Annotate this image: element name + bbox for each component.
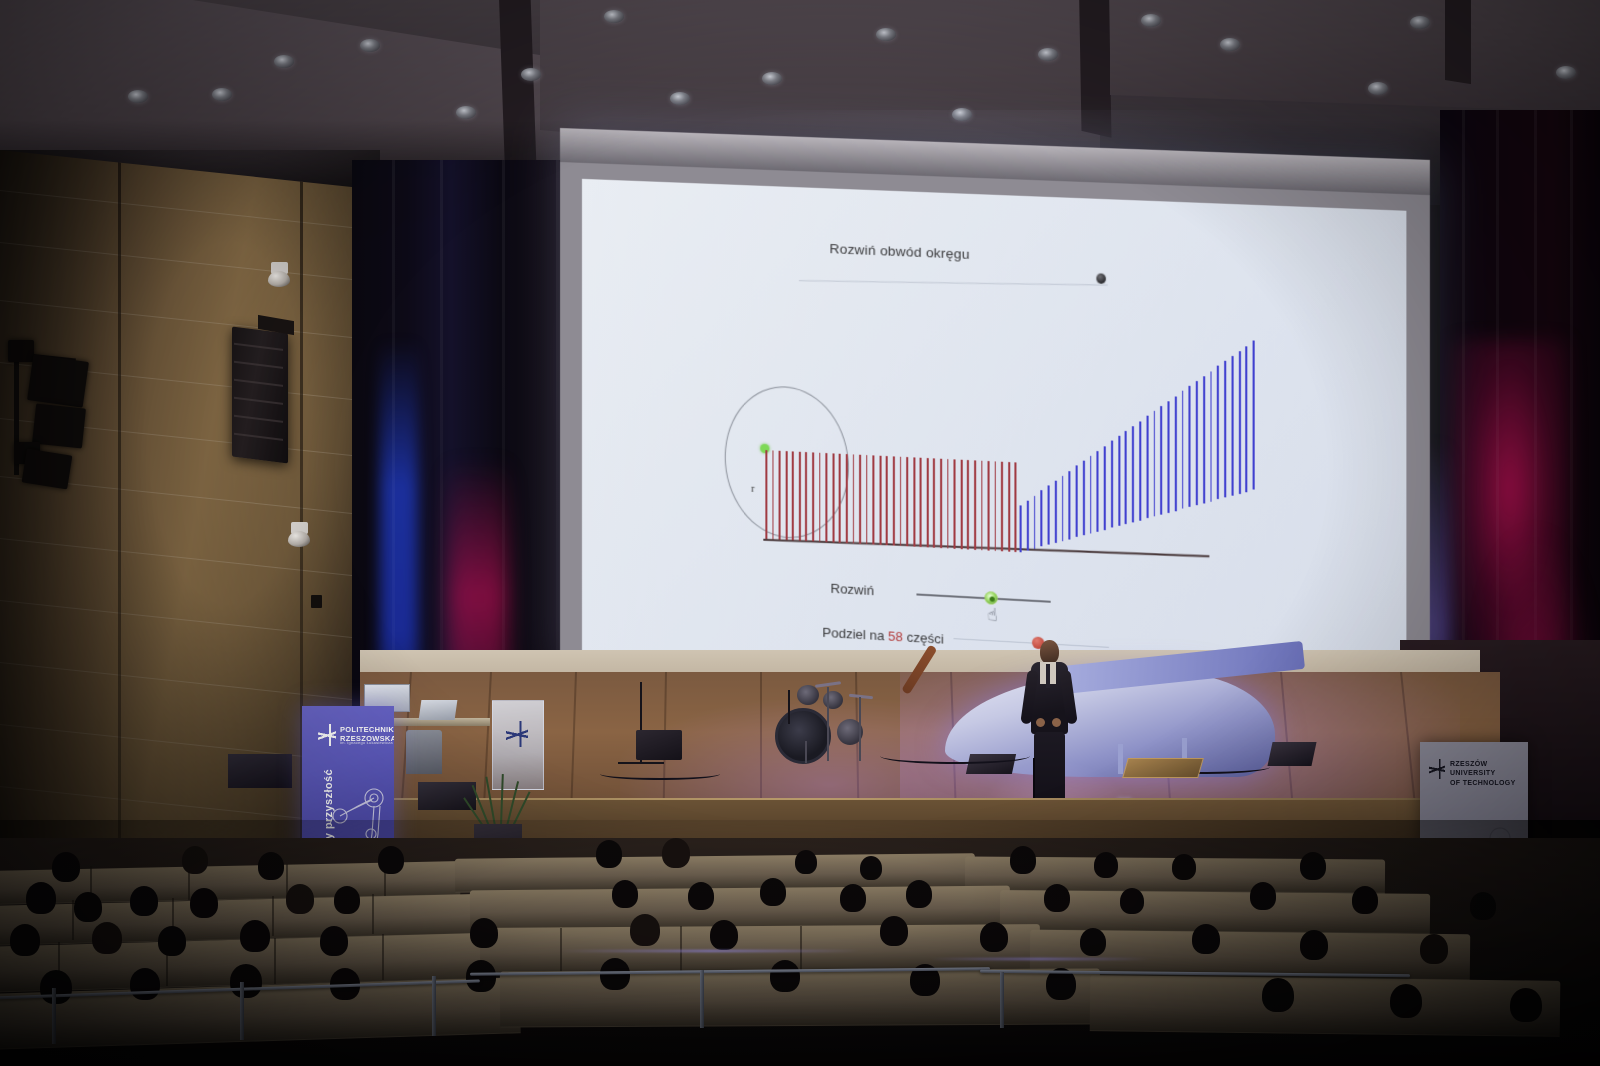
tom-drum	[823, 691, 843, 709]
audience-head	[182, 846, 208, 874]
banner-right-title-line2: OF TECHNOLOGY	[1450, 779, 1528, 788]
audience-head	[190, 888, 218, 918]
blue-segment	[1224, 361, 1226, 498]
seat-row[interactable]	[500, 968, 1100, 1027]
audience-head	[880, 916, 908, 946]
audience-head	[662, 838, 690, 868]
wooden-tray	[1122, 758, 1204, 778]
audience-head	[10, 924, 40, 956]
downlight-icon	[360, 39, 380, 52]
red-segment	[927, 458, 929, 547]
audience-head	[320, 926, 348, 956]
blue-segment	[1104, 446, 1106, 530]
red-segment	[1001, 462, 1003, 552]
blue-segment	[1083, 461, 1085, 536]
stage-cable	[600, 768, 720, 780]
blue-segment	[1125, 431, 1127, 524]
line-array-speaker	[232, 327, 288, 464]
blue-segment	[1132, 426, 1134, 522]
audience-head	[760, 878, 786, 906]
unroll-slider-row: Rozwiń	[830, 581, 874, 599]
red-segment	[974, 460, 976, 550]
audience-head	[906, 880, 932, 908]
stage-monitor	[1267, 742, 1316, 766]
red-segment	[933, 458, 935, 547]
red-segment	[947, 459, 949, 548]
blue-segment	[1239, 351, 1241, 494]
blue-segment	[1027, 500, 1029, 550]
audience-head	[1192, 924, 1220, 954]
audience-head	[1262, 978, 1294, 1012]
red-segment	[994, 461, 996, 551]
red-segment	[906, 457, 908, 546]
stage-light-fixture	[8, 340, 34, 362]
railing-post	[1000, 972, 1004, 1028]
red-segment	[785, 451, 787, 540]
ptz-camera-icon	[288, 522, 310, 548]
tom-drum	[797, 685, 819, 705]
audience-head	[286, 884, 314, 914]
blue-segment	[1111, 441, 1113, 528]
railing-post	[432, 976, 436, 1036]
audience-head	[92, 922, 122, 954]
audience-head	[52, 852, 80, 882]
stage-light-fixture	[27, 354, 89, 407]
blue-segment	[1076, 466, 1078, 538]
audience-head	[378, 846, 404, 874]
red-segment	[805, 452, 807, 541]
audience-head	[1420, 934, 1448, 964]
auditorium-scene: Rozwiń obwód okręgu r Rozwiń ☜	[0, 0, 1600, 1066]
blue-segment	[1055, 481, 1057, 543]
microphone-stand-base	[618, 762, 664, 764]
seat-row[interactable]	[1090, 975, 1561, 1037]
red-segment	[812, 452, 814, 541]
red-segment	[954, 459, 956, 548]
cymbal	[849, 694, 873, 699]
red-segment	[1008, 462, 1010, 552]
audience-head	[1352, 886, 1378, 914]
audience-head	[1250, 882, 1276, 910]
audience-head	[612, 880, 638, 908]
downlight-icon	[1220, 38, 1240, 51]
blue-segment	[1168, 401, 1170, 513]
downlight-icon	[1141, 14, 1161, 27]
guitar-amplifier	[636, 730, 682, 760]
red-segment	[866, 455, 868, 544]
lectern	[492, 700, 544, 790]
unroll-slider-knob[interactable]	[984, 591, 997, 605]
audience-head	[860, 856, 882, 880]
parts-count: 58	[888, 628, 903, 644]
unrolled-circle-figure: r	[582, 179, 1406, 707]
railing-post	[52, 988, 56, 1044]
presenter-tie	[1046, 664, 1050, 688]
audience-head	[1044, 884, 1070, 912]
blue-segment	[1217, 366, 1219, 500]
drum-kit	[775, 683, 880, 763]
blue-segment	[1175, 396, 1177, 511]
audience-head	[1172, 854, 1196, 880]
red-segment	[765, 450, 767, 539]
banner-left-title-line1: POLITECHNIKA	[340, 725, 394, 734]
geogebra-slide: Rozwiń obwód okręgu r Rozwiń ☜	[582, 179, 1406, 707]
screen-surface: Rozwiń obwód okręgu r Rozwiń ☜	[582, 179, 1406, 707]
parts-suffix: części	[907, 629, 944, 646]
laptop	[419, 700, 458, 720]
railing-post	[240, 982, 244, 1040]
blue-segment	[1253, 341, 1255, 490]
blue-segment	[1203, 376, 1205, 503]
downlight-icon	[762, 72, 782, 85]
red-segment	[832, 453, 834, 542]
seat-row[interactable]	[480, 924, 1040, 974]
prz-logo-icon	[506, 721, 528, 747]
downlight-icon	[670, 92, 690, 105]
bass-drum	[775, 708, 831, 764]
red-segment	[960, 460, 962, 550]
red-segment	[859, 455, 861, 544]
microphone-stand	[788, 690, 790, 724]
audience-head	[840, 884, 866, 912]
blue-segment	[1210, 371, 1212, 501]
audience-head	[1120, 888, 1144, 914]
stage-light-fixture	[32, 403, 86, 448]
projection-screen: Rozwiń obwód okręgu r Rozwiń ☜	[560, 128, 1430, 724]
red-segment	[879, 456, 881, 545]
railing-post	[700, 970, 704, 1028]
downlight-icon	[1410, 16, 1430, 29]
blue-segment	[1139, 421, 1141, 520]
hand-cursor-icon: ☜	[983, 606, 1001, 622]
red-segment	[967, 460, 969, 550]
red-segment	[772, 450, 774, 539]
red-segment	[839, 454, 841, 543]
blue-segment	[1020, 505, 1022, 552]
blue-segment	[1246, 346, 1248, 492]
audience-head	[1470, 892, 1496, 920]
red-segment	[873, 455, 875, 544]
banner-left-subtitle: im. Ignacego Łukasiewicza	[340, 740, 393, 745]
floor-speaker	[228, 754, 292, 788]
red-segment	[940, 459, 942, 548]
red-segment	[886, 456, 888, 545]
audience-head	[158, 926, 186, 956]
red-segment	[846, 454, 848, 543]
audience-head	[130, 968, 160, 1000]
audience-head	[1094, 852, 1118, 878]
blue-segment	[1231, 356, 1233, 496]
blue-segment	[1182, 391, 1184, 509]
blue-segment	[1097, 451, 1099, 532]
audience-head	[26, 882, 56, 914]
downlight-icon	[521, 68, 541, 81]
audience-head	[466, 960, 496, 992]
audience-head	[230, 964, 262, 998]
blue-segment	[1189, 386, 1191, 507]
banner-right-title: RZESZÓW UNIVERSITY OF TECHNOLOGY	[1450, 760, 1528, 788]
red-segment	[792, 451, 794, 540]
audience-head	[74, 892, 102, 922]
downlight-icon	[604, 10, 624, 23]
downlight-icon	[876, 28, 896, 41]
audience-head	[980, 922, 1008, 952]
blue-segment	[1069, 471, 1071, 539]
audience-head	[240, 920, 270, 952]
blue-segment	[1048, 486, 1050, 545]
audience-head	[630, 914, 660, 946]
blue-segment	[1041, 491, 1043, 547]
chair	[406, 730, 442, 774]
red-segment	[852, 454, 854, 543]
audience-head	[1390, 984, 1422, 1018]
banner-right-title-line1: RZESZÓW UNIVERSITY	[1450, 760, 1528, 779]
audience-head	[1300, 852, 1326, 880]
red-segment	[981, 461, 983, 551]
downlight-icon	[1038, 48, 1058, 61]
audience-head	[770, 960, 800, 992]
stage-light-fixture	[22, 449, 73, 490]
wall-plate	[311, 595, 322, 608]
presenter-hand-right	[1052, 718, 1061, 727]
blue-segment	[1034, 496, 1036, 549]
radius-label: r	[751, 484, 754, 495]
ptz-camera-icon	[268, 262, 290, 288]
audience-head	[1010, 846, 1036, 874]
red-segment-group	[765, 450, 1021, 552]
prz-logo-icon	[1429, 759, 1445, 779]
presenter-head	[1040, 640, 1059, 664]
audience-head	[40, 970, 72, 1004]
blue-segment	[1160, 406, 1162, 515]
blue-segment-group	[1020, 399, 1260, 564]
audience-head	[470, 918, 498, 948]
blue-segment	[1062, 476, 1064, 541]
blue-segment	[1196, 381, 1198, 505]
downlight-icon	[1556, 66, 1576, 79]
unroll-slider-label: Rozwiń	[830, 581, 874, 599]
downlight-icon	[1368, 82, 1388, 95]
audience-head	[1080, 928, 1106, 956]
blue-segment	[1146, 416, 1148, 518]
downlight-icon	[212, 88, 232, 101]
audience-head	[1300, 930, 1328, 960]
audience-head	[795, 850, 817, 874]
blue-segment	[1118, 436, 1120, 526]
red-segment	[893, 456, 895, 545]
audience-head	[710, 920, 738, 950]
audience-head	[596, 840, 622, 868]
audience-head	[130, 886, 158, 916]
audience-head	[258, 852, 284, 880]
audience-head	[1510, 988, 1542, 1022]
prz-logo-icon	[318, 724, 336, 746]
audience-head	[688, 882, 714, 910]
red-segment	[779, 451, 781, 540]
red-segment	[900, 457, 902, 546]
downlight-icon	[274, 55, 294, 68]
red-segment	[988, 461, 990, 551]
presenter-hand-left	[1036, 718, 1045, 727]
red-segment	[1015, 462, 1017, 552]
blue-segment	[1090, 456, 1092, 534]
red-segment	[819, 453, 821, 542]
audience-head	[334, 886, 360, 914]
red-segment	[913, 457, 915, 546]
downlight-icon	[456, 106, 476, 119]
downlight-icon	[128, 90, 148, 103]
red-segment	[920, 458, 922, 547]
red-segment	[826, 453, 828, 542]
blue-segment	[1153, 411, 1155, 517]
red-segment	[799, 452, 801, 541]
